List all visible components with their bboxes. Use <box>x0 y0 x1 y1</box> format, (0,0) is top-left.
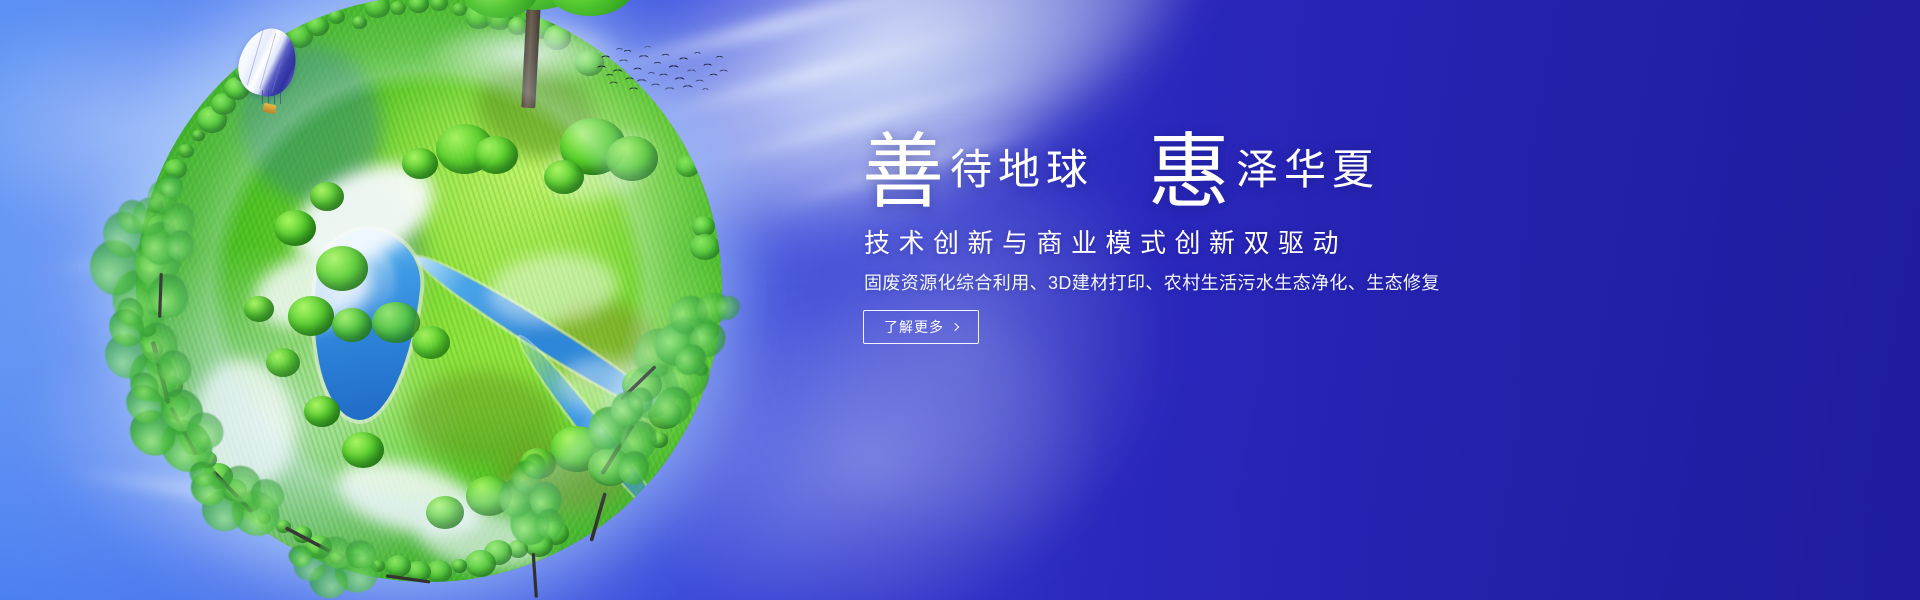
hanging-tree <box>491 455 570 556</box>
tree-canopy <box>161 174 183 199</box>
tree-canopy <box>166 230 194 261</box>
bird-icon <box>625 78 632 83</box>
tree-canopy <box>310 182 344 211</box>
bird-icon <box>716 56 722 60</box>
tree-canopy <box>426 496 464 529</box>
tree-canopy <box>316 246 368 291</box>
bird-icon <box>648 72 653 75</box>
tree-canopy <box>544 0 636 16</box>
bird-icon <box>669 65 677 70</box>
headline-lead-char-1: 善 <box>862 125 950 220</box>
learn-more-button[interactable]: 了解更多 <box>863 310 979 344</box>
tree-canopy <box>274 210 316 246</box>
hot-air-balloon-icon <box>240 28 296 124</box>
bird-icon <box>639 55 647 61</box>
bird-icon <box>662 54 668 58</box>
tree-canopy <box>474 136 518 174</box>
banner-headline: 善待地球惠泽华夏 <box>862 132 1380 214</box>
tree-canopy <box>523 453 546 478</box>
tree-canopy <box>342 432 384 468</box>
bird-icon <box>597 66 604 71</box>
banner-subtitle: 技术创新与商业模式创新双驱动 <box>864 228 1347 259</box>
rim-tree <box>192 130 204 141</box>
rim-tree <box>452 559 467 572</box>
bird-icon <box>679 58 686 63</box>
bird-icon <box>683 85 691 90</box>
bird-icon <box>675 77 683 82</box>
tree-canopy <box>266 348 300 377</box>
bird-icon <box>644 46 649 50</box>
rim-tree <box>306 16 328 36</box>
rim-tree <box>465 550 496 577</box>
bird-icon <box>703 64 710 69</box>
bird-icon <box>659 74 666 79</box>
bird-icon <box>629 88 636 93</box>
hanging-tree <box>286 526 391 600</box>
rim-tree <box>328 9 345 24</box>
bird-icon <box>665 87 673 92</box>
bird-icon <box>606 74 612 78</box>
bird-icon <box>710 74 717 78</box>
tree-canopy <box>606 136 658 181</box>
bird-icon <box>616 48 622 52</box>
bird-icon <box>694 52 699 56</box>
bird-icon <box>703 88 708 91</box>
chevron-right-icon <box>951 322 959 330</box>
bird-icon <box>720 70 727 74</box>
hanging-tree <box>126 176 201 274</box>
tree-canopy <box>244 296 274 322</box>
bird-icon <box>601 56 608 61</box>
banner-description: 固废资源化综合利用、3D建材打印、农村生活污水生态净化、生态修复 <box>864 270 1440 297</box>
bird-icon <box>634 68 641 72</box>
flock-of-birds-icon <box>596 44 726 92</box>
bird-icon <box>654 62 660 66</box>
bird-icon <box>652 84 659 89</box>
headline-rest-2: 泽华夏 <box>1236 145 1380 194</box>
hero-banner: 善待地球惠泽华夏 技术创新与商业模式创新双驱动 固废资源化综合利用、3D建材打印… <box>0 0 1920 600</box>
balloon-basket <box>262 103 277 115</box>
bird-icon <box>624 50 630 54</box>
tree-canopy <box>402 148 438 179</box>
bird-icon <box>610 82 617 87</box>
tree-canopy <box>412 326 450 359</box>
rim-tree <box>676 155 700 176</box>
bird-icon <box>619 60 626 65</box>
banner-content: 善待地球惠泽华夏 技术创新与商业模式创新双驱动 固废资源化综合利用、3D建材打印… <box>862 0 1682 600</box>
tree-canopy <box>304 396 340 427</box>
bird-icon <box>613 69 621 74</box>
rim-tree <box>178 144 194 158</box>
bird-icon <box>687 70 694 75</box>
headline-rest-1: 待地球 <box>950 145 1094 194</box>
tree-canopy <box>288 296 334 336</box>
headline-lead-char-2: 惠 <box>1148 125 1236 220</box>
learn-more-label: 了解更多 <box>884 317 944 337</box>
rim-tree <box>690 234 719 260</box>
bird-icon <box>696 80 703 84</box>
bird-icon <box>637 79 645 84</box>
